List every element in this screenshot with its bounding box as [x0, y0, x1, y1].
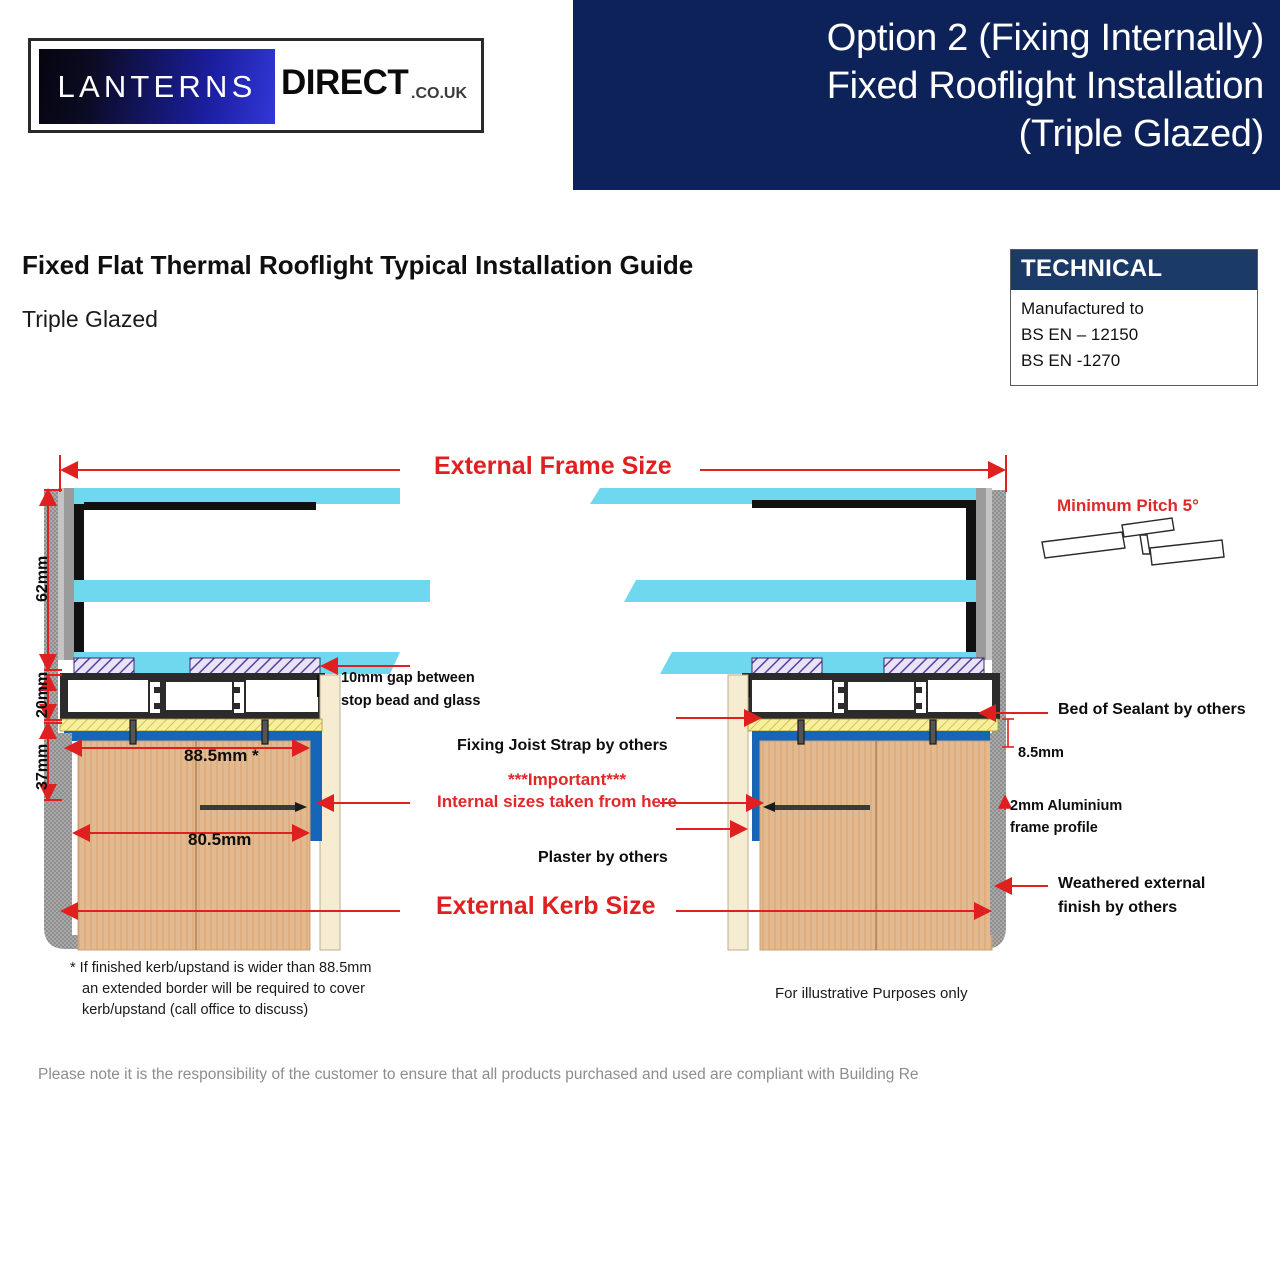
logo-text-direct: DIRECT	[281, 63, 408, 103]
page-title: Fixed Flat Thermal Rooflight Typical Ins…	[22, 250, 693, 281]
page-subtitle: Triple Glazed	[22, 306, 158, 333]
minimum-pitch-icon	[1042, 518, 1224, 565]
banner-line-3: (Triple Glazed)	[1019, 110, 1264, 158]
logo-gradient-panel: LANTERNS	[39, 49, 275, 124]
technical-line-1: Manufactured to	[1011, 296, 1257, 322]
callout-10mm-gap-line1: 10mm gap between	[341, 670, 475, 686]
external-kerb-size-label: External Kerb Size	[436, 892, 656, 921]
callout-10mm-gap-line2: stop bead and glass	[341, 693, 480, 709]
callout-weathered-finish-line2: finish by others	[1058, 899, 1177, 917]
banner-line-1: Option 2 (Fixing Internally)	[827, 14, 1264, 62]
dimension-20mm: 20mm	[34, 672, 52, 718]
dimension-62mm: 62mm	[34, 556, 52, 602]
technical-box: TECHNICAL Manufactured to BS EN – 12150 …	[1010, 249, 1258, 386]
kerb-footnote: * If finished kerb/upstand is wider than…	[70, 958, 371, 1021]
callout-2mm-aluminium-line1: 2mm Aluminium	[1010, 798, 1122, 814]
header-banner: Option 2 (Fixing Internally) Fixed Roofl…	[573, 0, 1280, 190]
left-cross-section	[44, 488, 430, 950]
kerb-footnote-line-3: kerb/upstand (call office to discuss)	[70, 1000, 371, 1021]
callout-plaster-by-others: Plaster by others	[538, 849, 668, 867]
company-logo: LANTERNS DIRECT .CO.UK	[28, 38, 484, 133]
dimension-88-5mm: 88.5mm *	[184, 746, 259, 766]
aluminium-extrusion-left	[60, 673, 325, 719]
kerb-footnote-line-2: an extended border will be required to c…	[70, 979, 371, 1000]
logo-text-tld: .CO.UK	[411, 85, 467, 103]
technical-heading: TECHNICAL	[1011, 250, 1257, 290]
minimum-pitch-label: Minimum Pitch 5°	[1057, 496, 1199, 516]
logo-text-lanterns: LANTERNS	[58, 69, 257, 105]
technical-line-3: BS EN -1270	[1011, 348, 1257, 374]
external-frame-size-label: External Frame Size	[434, 452, 672, 481]
illustrative-purposes-note: For illustrative Purposes only	[775, 985, 968, 1002]
callout-important: ***Important***	[508, 770, 626, 790]
technical-line-2: BS EN – 12150	[1011, 322, 1257, 348]
compliance-disclaimer: Please note it is the responsibility of …	[38, 1066, 919, 1084]
dimension-37mm: 37mm	[34, 744, 52, 790]
callout-internal-sizes: Internal sizes taken from here	[437, 792, 677, 812]
callout-fixing-joist-strap: Fixing Joist Strap by others	[457, 737, 668, 755]
right-cross-section	[590, 488, 1006, 950]
callout-2mm-aluminium-line2: frame profile	[1010, 820, 1098, 836]
technical-body: Manufactured to BS EN – 12150 BS EN -127…	[1011, 290, 1257, 374]
callout-8-5mm: 8.5mm	[1018, 745, 1064, 761]
kerb-footnote-line-1: * If finished kerb/upstand is wider than…	[70, 960, 371, 976]
aluminium-extrusion-right	[742, 673, 1000, 719]
callout-bed-of-sealant: Bed of Sealant by others	[1058, 701, 1246, 719]
diagram-svg	[0, 430, 1280, 1010]
installation-cross-section-diagram: External Frame Size External Kerb Size M…	[0, 430, 1280, 1010]
dimension-80-5mm: 80.5mm	[188, 830, 251, 850]
callout-weathered-finish-line1: Weathered external	[1058, 875, 1205, 893]
banner-line-2: Fixed Rooflight Installation	[827, 62, 1264, 110]
